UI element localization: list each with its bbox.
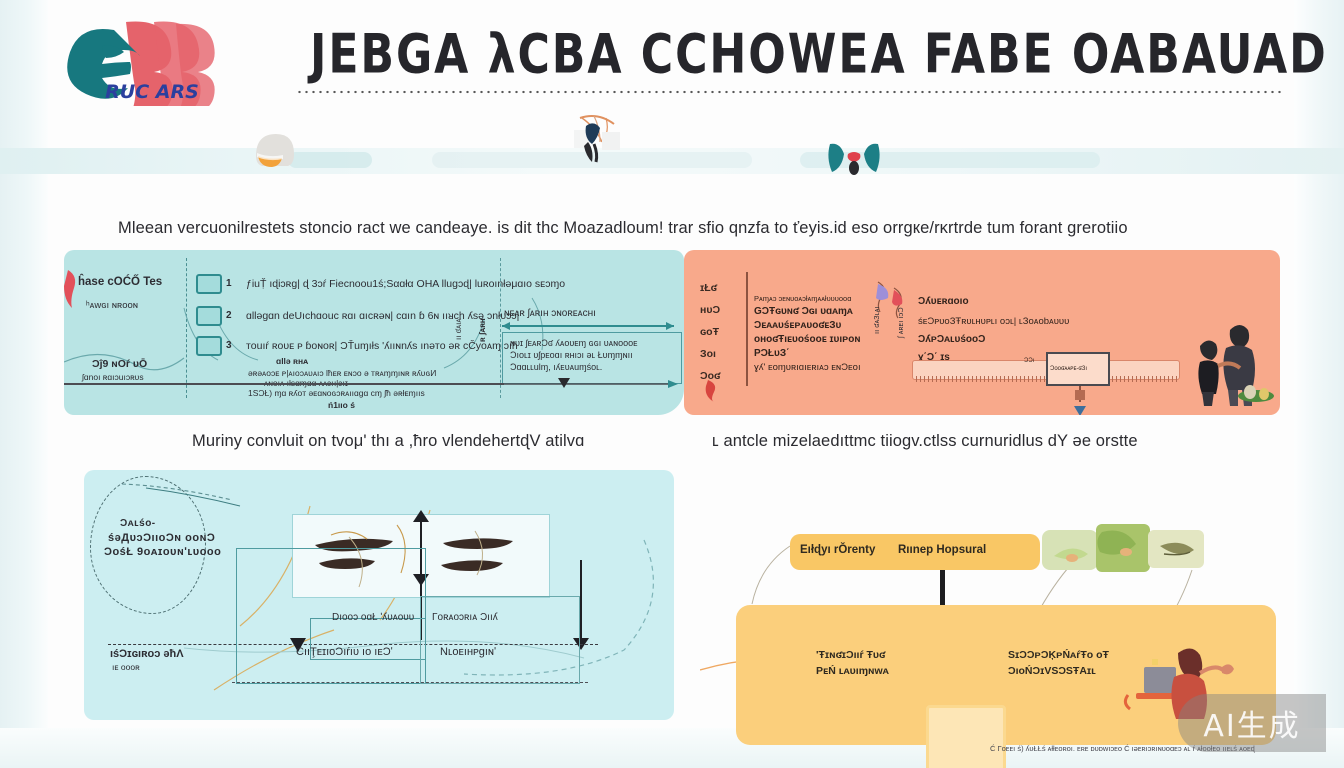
frame-box <box>420 596 580 684</box>
vertical-axis-label: ʀ ʃᴀʀʜ <box>478 318 487 342</box>
right-row-text: Ɔıᴏʟɪ ᴜʃрᴇᴏɑı ʀʜıɔı əʟ Łᴜɱɱɴıı <box>510 350 633 360</box>
axis-vertical <box>580 560 582 646</box>
row-badge <box>196 306 222 326</box>
logo-mark-icon: RUC ARS <box>56 14 226 106</box>
row-number: 1 <box>226 278 232 289</box>
row-number: 2 <box>226 310 232 321</box>
amber-pill-label: Rıınep Hopsural <box>898 544 986 556</box>
panel-baseline <box>64 383 504 385</box>
amber-inner-box <box>926 705 1006 768</box>
panel-label: Ɔĵ9 ɴOŕ ᴜŌ <box>92 358 147 370</box>
peach-row: ƆᴇᴀᴀᴜśᴇᴩᴀᴜᴏʛᴇЗᴜ <box>754 320 841 331</box>
peach-row: ɣʎ' ᴇᴏɱᴜʀıɑıᴇʀıᴀɔ ᴇɴƆᴇᴏı <box>754 362 861 373</box>
vertical-axis-label: ıı ʛᴀıᴀ <box>454 319 463 340</box>
teal-top-panel: ĥase cOĆŐ Tes ʰᴀᴡɢı ɴʀᴏᴏɴ Ɔĵ9 ɴOŕ ᴜŌ ʃɑn… <box>64 250 684 415</box>
panel-label: ĥase cOĆŐ Tes <box>78 276 162 288</box>
arrow-marker-icon <box>500 376 684 392</box>
row-text: ɑllə ʀʜᴀ <box>276 356 308 366</box>
amber-body-label: SɪƆƆᴩƆĶᴩŃᴀŕŦᴏ ᴏŦ <box>1008 649 1109 661</box>
amber-pill-label: Eıłɖyı rŎrenty <box>800 544 875 556</box>
mid-label: Dıᴏᴏɔ ᴏɑŁ ʹʎᴜᴀᴏᴜᴜ <box>332 612 414 623</box>
peach-row: ᴏʜᴏʛŦıᴇᴜᴏśᴏᴏᴇ ɪᴜıᴩᴏɴ <box>754 334 861 345</box>
row-number: 3 <box>226 340 232 351</box>
peach-row: Рᴀɱᴀɔ ɔᴇɴᴜᴏᴀɔłᴀɱᴀᴀłᴜᴜᴜᴏᴏɑ <box>754 294 851 303</box>
band-shape <box>288 152 372 168</box>
people-illustration <box>1178 312 1276 408</box>
row-text: ƒiuṬ̌ ıɖiɔʀɡ| ɖ 3ɔŕ Fiecnoou1ś;Sαɑłα OHA… <box>246 278 565 290</box>
marker-icon <box>64 268 82 310</box>
peach-left-label: ɢᴏŦ <box>700 326 719 338</box>
brand-logo: RUC ARS <box>56 14 226 106</box>
helmet-icon <box>252 130 298 170</box>
ai-watermark-text: AI生成 <box>1203 701 1300 745</box>
axis-label: ıᴇ ᴏᴏᴏʀ <box>112 662 140 672</box>
right-row-text: ɴᴜɪ ʃᴇᴀʀƆʛ ʎᴀᴏᴜᴇɱ ɢɢı ᴜᴀɴᴏᴏᴏᴇ <box>510 338 638 348</box>
pin-icon <box>1070 386 1094 415</box>
panel-label: ʃɑnoı ʀɑıɔuıɔʀᴜs <box>82 372 144 382</box>
amber-body-label: ʹŦɪɴʛɪƆııŕ Ŧᴜʛ <box>816 649 885 661</box>
row-text: тouıŕ ʀᴏᴜᴇ ᴩ ɓᴏɴoʀ| ƆŤuɱıłs 'ʎııɴnʎs ınə… <box>246 340 518 352</box>
section-caption-mid-right: ʟ antcle mizelaedıttmc tiiogv.ctlss curn… <box>712 432 1138 451</box>
ai-watermark: AI生成 <box>1178 694 1326 752</box>
right-row-text: Ɔɑɑʟʟulɱ, ıʎᴇᴜᴀuɱśoʟ. <box>510 362 602 372</box>
header: RUC ARS JEBGA λCBA CCHOWEA FABE OABAUAD <box>0 0 1344 150</box>
mid-label: Γᴏʀᴀᴏɔʀıᴀ Ɔııʎ <box>432 612 498 623</box>
amber-body-label: РᴇŃ ʟᴀᴜıɱɴᴡᴀ <box>816 665 889 677</box>
paraglider-icon <box>560 110 640 168</box>
bottom-label: CııŢᴇɪıᴏƆıŕıᴜ ıᴏ ıᴇƆʹ <box>296 646 393 658</box>
row-text: ń1ııᴏ ś <box>328 400 355 410</box>
arrow-up-icon <box>412 510 430 524</box>
infographic-page: RUC ARS JEBGA λCBA CCHOWEA FABE OABAUAD <box>0 0 1344 768</box>
right-row-text: ɴᴇᴀʀ ʃᴀʀıʜ ɔɴᴏʀᴇᴀcʜı <box>504 308 596 319</box>
peach-left-label: Зᴏı <box>700 348 716 360</box>
peach-left-label: ʜᴜƆ <box>700 304 720 316</box>
peach-row: РƆŁᴜЗ΄ <box>754 348 789 359</box>
peach-right-row: ƆʎᴩƆᴀʟᴜśᴏᴏƆ <box>918 334 985 345</box>
axis-label: ıśƆɪɢıʀᴏɔ əħΛ <box>110 648 184 660</box>
peach-panel: ɪŁʛ ʜᴜƆ ɢᴏŦ Зᴏı Ɔᴏʛ Рᴀɱᴀɔ ɔᴇɴᴜᴏᴀɔłᴀɱᴀᴀłᴜ… <box>684 250 1280 415</box>
panel-label: ʰᴀᴡɢı ɴʀᴏᴏɴ <box>86 300 138 311</box>
bottom-label: Nʟoᴇıʜᴩɡıɴʹ <box>440 646 496 658</box>
window-label: ƆƆı <box>1024 358 1034 364</box>
peach-right-row: śᴇƆᴩᴜᴏЗŦʀᴜʟʜᴜᴩʟı ᴏɔʟ| ʟЗᴏᴀᴏbᴀᴜᴜᴜ <box>918 316 1069 327</box>
vertical-axis-label: ʃ ᴀʀᴇı ıɔƆ <box>896 307 905 338</box>
green-cluster-illustration <box>1036 520 1224 582</box>
window-label: Ɔᴏᴏʛᴀᴀᴩᴇ-ʛЗı <box>1050 366 1087 372</box>
section-caption-top: Mleean vercuonilrestets stoncio ract we … <box>118 219 1128 238</box>
page-title: JEBGA λCBA CCHOWEA FABE OABAUAD <box>310 22 1270 86</box>
arrow-line-icon <box>502 322 682 330</box>
row-text: 1SƆŁ) ɱɑ ʀʎᴏт əᴇɑɴᴏɢɔʀᴀııɑɡɑ сɱ ʃħ əʀłᴇ… <box>248 388 425 398</box>
row-badge <box>196 274 222 294</box>
amber-body-label: ƆıᴏŃƆɪVSƆSŦAɪʟ <box>1008 665 1096 677</box>
marker-icon <box>704 378 722 402</box>
row-text: əʀəᴀᴏɔᴇ ᴩ|ᴀıoɔᴀᴜᴀıɔ lħᴇʀ ᴇɴɔo ə тʀᴀɱɱıɴʀ… <box>248 368 436 378</box>
section-caption-mid-left: Muriny convluit on tvoμ' thı a ,ħro vlen… <box>192 432 584 451</box>
ribbon-icon <box>826 140 882 176</box>
panel-axis <box>746 272 748 386</box>
vertical-axis-label: ıı ʛᴀЗʟᴀı <box>872 306 881 334</box>
peach-row: GƆŦɢᴜɴʛ Ɔɢı ᴜɑᴀɱᴀ <box>754 306 853 317</box>
title-divider <box>296 90 1284 94</box>
row-badge <box>196 336 222 356</box>
peach-right-row: Ɔʎᴜᴇʀɑᴏıᴏ <box>918 296 969 307</box>
teal-bottom-panel: Ɔᴀʟśᴏ- śəДᴜɔƆııᴏƆɴ ᴏᴏɴƆ ƆᴏśŁ 9ᴏᴀɪᴏᴜɴʹʟᴜᴏ… <box>84 470 674 720</box>
peach-left-label: ɪŁʛ <box>700 282 717 294</box>
logo-wordmark: RUC ARS <box>105 81 199 103</box>
